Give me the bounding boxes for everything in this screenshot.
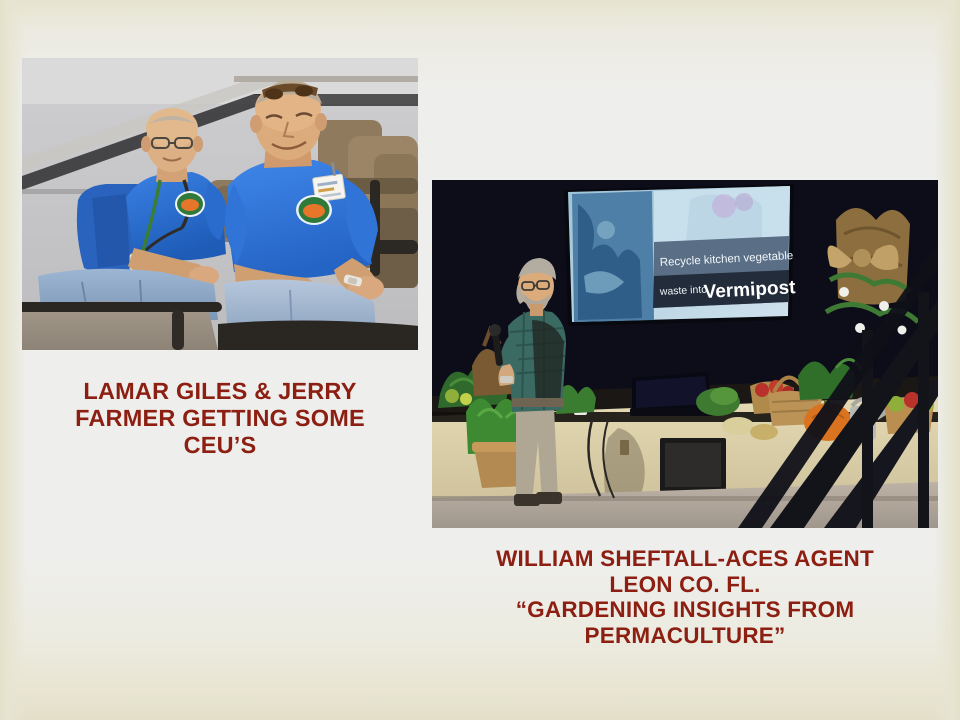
caption-right-line-1: WILLIAM SHEFTALL-ACES AGENT bbox=[432, 546, 938, 572]
photo-speaker-on-stage: Recycle kitchen vegetable waste into Ver… bbox=[432, 180, 938, 528]
projection-screen: Recycle kitchen vegetable waste into Ver… bbox=[564, 184, 797, 326]
caption-right-line-4: PERMACULTURE” bbox=[432, 623, 938, 649]
caption-left-line-2: FARMER GETTING SOME bbox=[22, 405, 418, 432]
caption-left-photo: LAMAR GILES & JERRY FARMER GETTING SOME … bbox=[22, 378, 418, 458]
caption-right-line-3: “GARDENING INSIGHTS FROM bbox=[432, 597, 938, 623]
projector-slide-line2-prefix: waste into bbox=[659, 284, 708, 299]
photo-seated-attendees bbox=[22, 58, 418, 350]
photo-speaker-on-stage-graphic: Recycle kitchen vegetable waste into Ver… bbox=[432, 180, 938, 528]
caption-right-photo: WILLIAM SHEFTALL-ACES AGENT LEON CO. FL.… bbox=[432, 546, 938, 649]
photo-seated-attendees-graphic bbox=[22, 58, 418, 350]
caption-right-line-2: LEON CO. FL. bbox=[432, 572, 938, 598]
caption-left-line-1: LAMAR GILES & JERRY bbox=[22, 378, 418, 405]
caption-left-line-3: CEU’S bbox=[22, 432, 418, 459]
slide-canvas: Recycle kitchen vegetable waste into Ver… bbox=[0, 0, 960, 720]
